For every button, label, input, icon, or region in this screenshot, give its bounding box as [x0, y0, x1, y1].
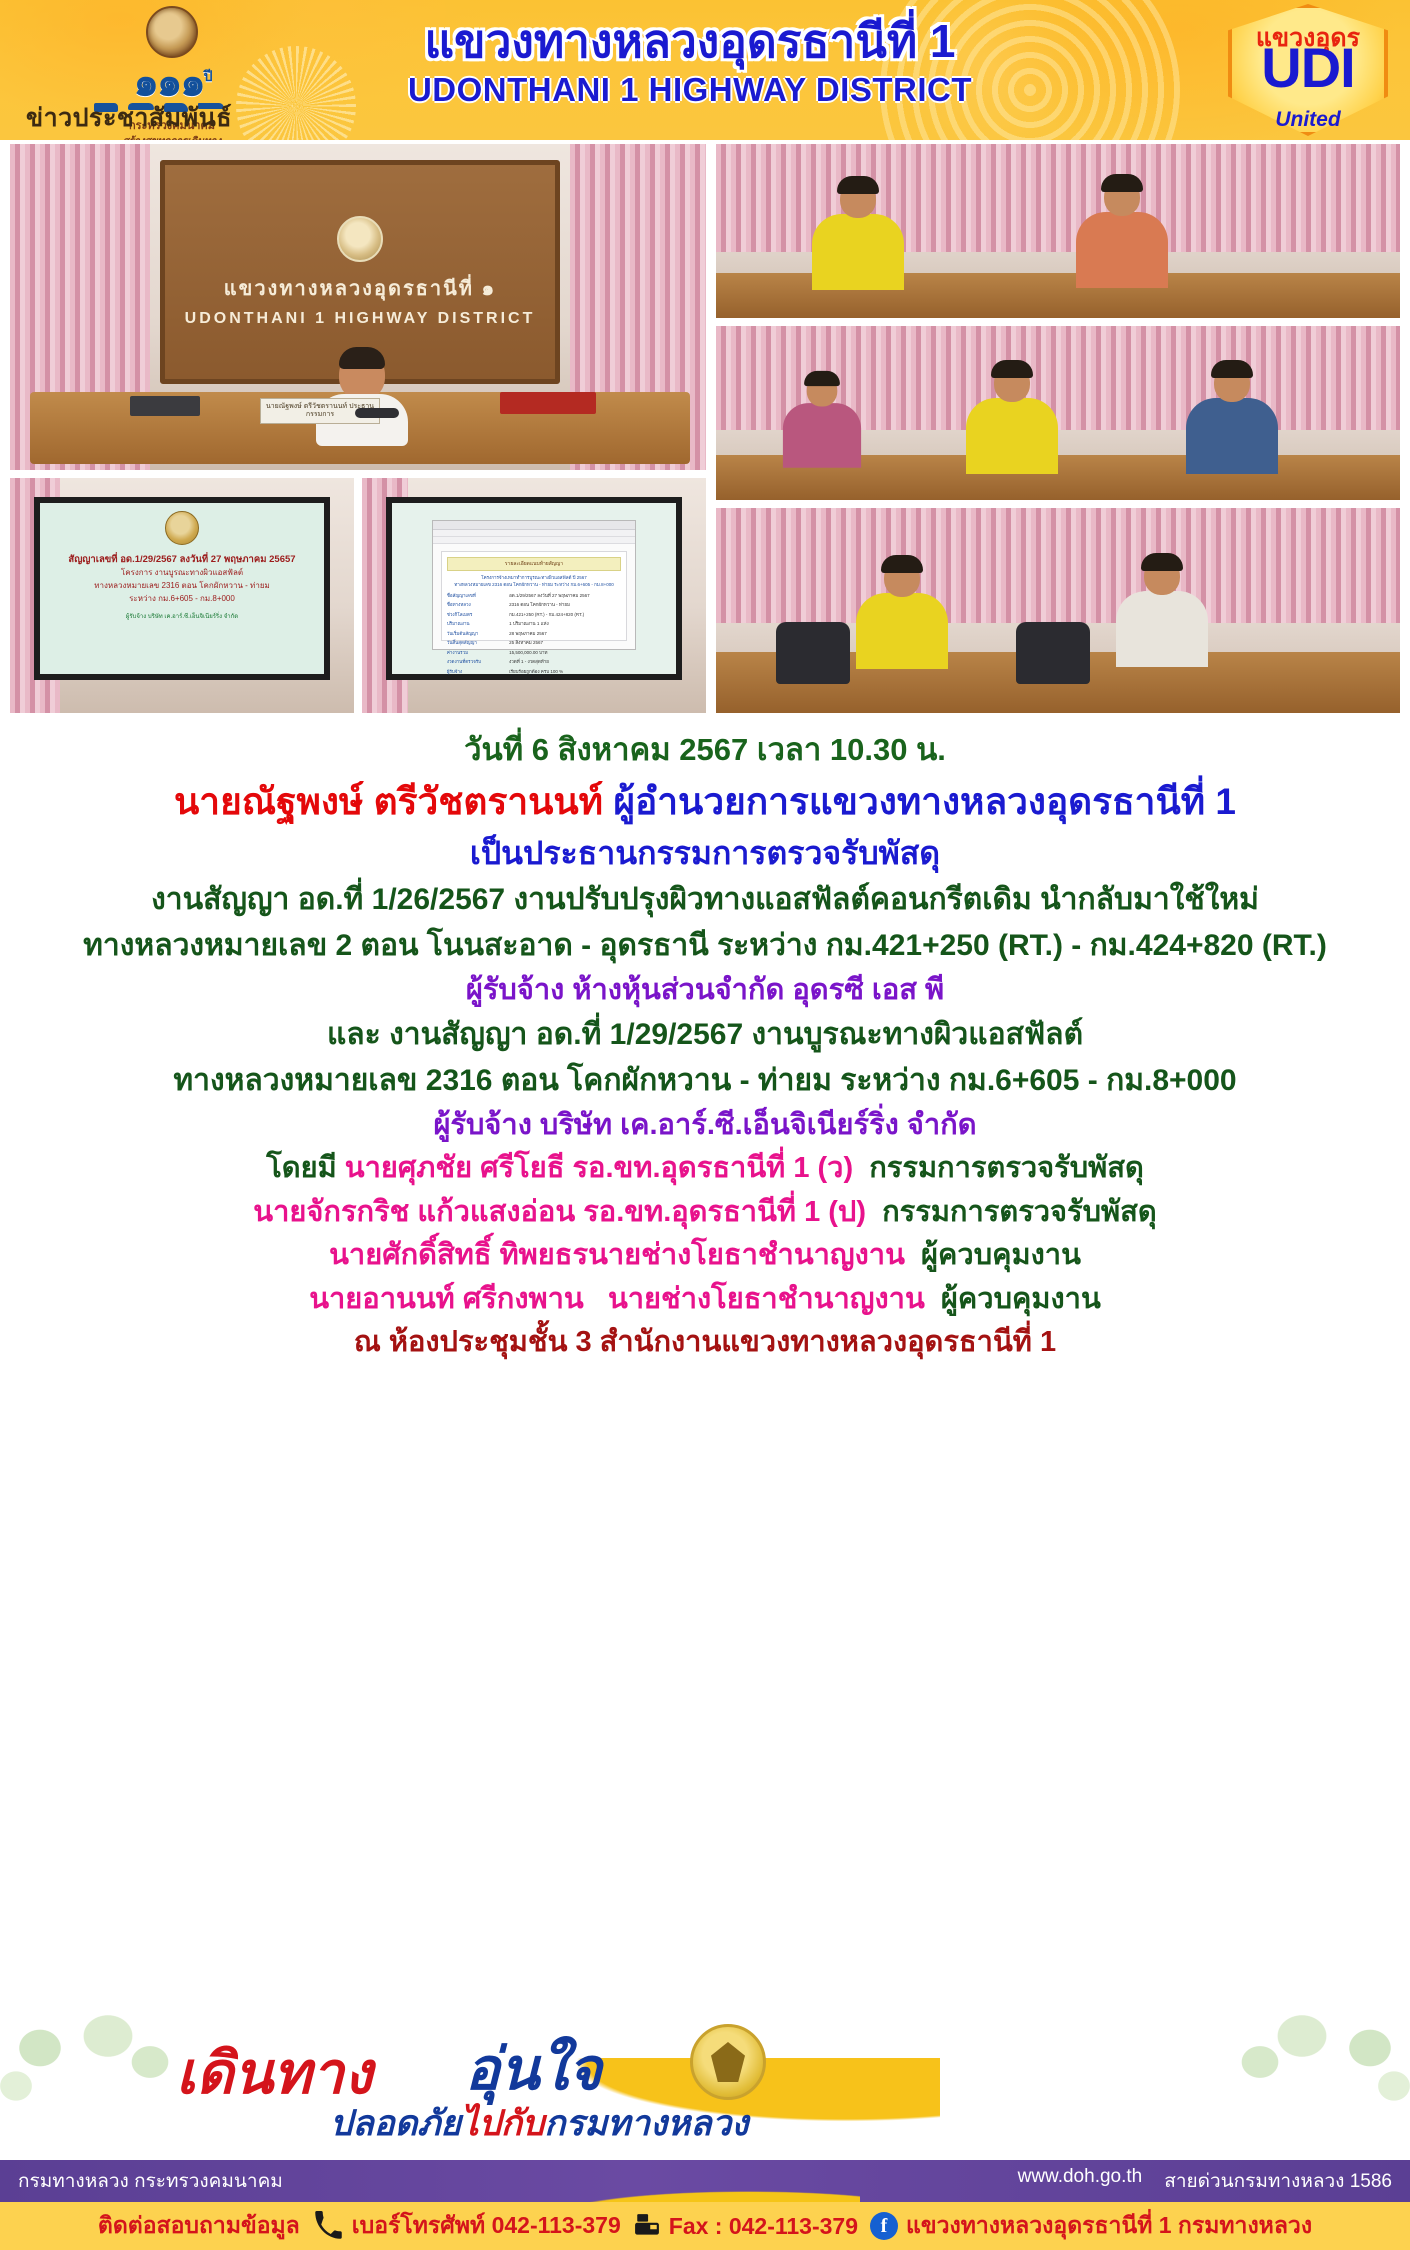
promo-tagline: ปลอดภัยไปกับกรมทางหลวง — [330, 2096, 748, 2151]
udi-badge: แขวงอุดร UDI United — [1228, 4, 1388, 136]
phone-number: เบอร์โทรศัพท์ 042-113-379 — [352, 2208, 621, 2244]
document-rows: ชื่อสัญญาเลขที่อด.1/29/2567 ลงวันที่ 27 … — [447, 592, 621, 675]
contract2-line1: และ งานสัญญา อด.ที่ 1/29/2567 งานบูรณะทา… — [0, 1016, 1410, 1054]
slide-line-1: สัญญาเลขที่ อด.1/29/2567 ลงวันที่ 27 พฤษ… — [49, 553, 316, 566]
document-row: ชื่อสัญญาเลขที่อด.1/29/2567 ลงวันที่ 27 … — [447, 592, 621, 599]
attendee-position-0: รอ.ขท.อุดรธานีที่ 1 (ว) — [572, 1152, 853, 1184]
document-row: งวดงานที่ตรวจรับงวดที่ 1 - งวดสุดท้าย — [447, 658, 621, 665]
laptop — [130, 396, 200, 416]
attendee-position-1: รอ.ขท.อุดรธานีที่ 1 (ป) — [583, 1196, 866, 1228]
document-row-value: อด.1/29/2567 ลงวันที่ 27 พฤษภาคม 2567 — [509, 592, 621, 599]
slide-line-5: ผู้รับจ้าง บริษัท เค.อาร์.ซี.เอ็นจิเนียร… — [49, 611, 316, 624]
anniversary-years: ๑๑๑ปี — [72, 60, 272, 99]
contract1-line1: งานสัญญา อด.ที่ 1/26/2567 งานปรับปรุงผิว… — [0, 881, 1410, 919]
page-header: ๑๑๑ปี กระทรวงคมนาคม สร้างสุขทุกการเดินทา… — [0, 0, 1410, 140]
document-row: ค่างานรวม15,500,000.00 บาท — [447, 649, 621, 656]
footer-website[interactable]: www.doh.go.th — [1018, 2166, 1143, 2196]
photo-director-presiding: แขวงทางหลวงอุดรธานีที่ ๑ UDONTHANI 1 HIG… — [8, 142, 708, 472]
sign-text-thai: แขวงทางหลวงอุดรธานีที่ ๑ — [224, 272, 496, 304]
attendee-line-3: นายอานนท์ ศรีกงพาน นายช่างโยธาชำนาญงาน ผ… — [0, 1281, 1410, 1318]
facebook-page-name[interactable]: แขวงทางหลวงอุดรธานีที่ 1 กรมทางหลวง — [906, 2208, 1312, 2244]
attendee-line-1: นายจักรกริช แก้วแสงอ่อน รอ.ขท.อุดรธานีที… — [0, 1194, 1410, 1231]
attendee-role-1: กรรมการตรวจรับพัสดุ — [882, 1196, 1157, 1228]
document-row-value: เรียบร้อยถูกต้อง ครบ 100 % — [509, 668, 621, 675]
document-row-key: ผู้รับจ้าง — [447, 668, 506, 675]
document-row-value: 2316 ตอน โคกผักหวาน - ท่ายม — [509, 601, 621, 608]
footer-hotline: สายด่วนกรมทางหลวง 1586 — [1164, 2166, 1392, 2196]
phone-icon — [312, 2210, 344, 2242]
attendee-name-1: นายจักรกริช แก้วแสงอ่อน — [253, 1196, 575, 1228]
document-row-key: ชื่อสัญญาเลขที่ — [447, 592, 506, 599]
poster-page: ๑๑๑ปี กระทรวงคมนาคม สร้างสุขทุกการเดินทา… — [0, 0, 1410, 2250]
document-row-key: ช่วงกิโลเมตร — [447, 611, 506, 618]
district-title-english: UDONTHANI 1 HIGHWAY DISTRICT — [250, 70, 1130, 110]
photo-committee-group — [714, 324, 1402, 502]
fax-icon — [633, 2211, 661, 2241]
document-row-key: วันสิ้นสุดสัญญา — [447, 639, 506, 646]
contract1-line2: ทางหลวงหมายเลข 2 ตอน โนนสะอาด - อุดรธานี… — [0, 927, 1410, 965]
footer-contact-band: ติดต่อสอบถามข้อมูล เบอร์โทรศัพท์ 042-113… — [0, 2202, 1410, 2250]
document-sheet: รายละเอียดแนบท้ายสัญญา โครงการจ้างเหมาทำ… — [441, 551, 627, 641]
attendee-line-0: โดยมี นายศุภชัย ศรีโยธี รอ.ขท.อุดรธานีที… — [0, 1150, 1410, 1187]
document-row-value: กม.421+250 (RT.) - กม.424+820 (RT.) — [509, 611, 621, 618]
district-title-thai: แขวงทางหลวงอุดรธานีที่ 1 — [250, 12, 1130, 70]
photo-collage: แขวงทางหลวงอุดรธานีที่ ๑ UDONTHANI 1 HIG… — [8, 142, 1402, 715]
document-row-value: 25 สิงหาคม 2567 — [509, 639, 621, 646]
date-line: วันที่ 6 สิงหาคม 2567 เวลา 10.30 น. — [0, 730, 1410, 769]
document-row: ชื่อทางหลวง2316 ตอน โคกผักหวาน - ท่ายม — [447, 601, 621, 608]
photo-contract-document-slide: รายละเอียดแนบท้ายสัญญา โครงการจ้างเหมาทำ… — [360, 476, 708, 715]
years-unit: ปี — [204, 69, 211, 85]
attendee-role-2: ผู้ควบคุมงาน — [921, 1239, 1081, 1271]
photo-committee-reviewing — [714, 506, 1402, 715]
document-window: รายละเอียดแนบท้ายสัญญา โครงการจ้างเหมาทำ… — [432, 520, 636, 650]
sign-text-english: UDONTHANI 1 HIGHWAY DISTRICT — [185, 310, 536, 328]
document-header: รายละเอียดแนบท้ายสัญญา — [447, 557, 621, 571]
attendee-name-0: นายศุภชัย ศรีโยธี — [345, 1152, 565, 1184]
contract2-line2: ทางหลวงหมายเลข 2316 ตอน โคกผักหวาน - ท่า… — [0, 1062, 1410, 1100]
contract1-contractor: ผู้รับจ้าง ห้างหุ้นส่วนจำกัด อุดรซี เอส … — [0, 972, 1410, 1009]
photo-projector-slide: สัญญาเลขที่ อด.1/29/2567 ลงวันที่ 27 พฤษ… — [8, 476, 356, 715]
header-titles: แขวงทางหลวงอุดรธานีที่ 1 UDONTHANI 1 HIG… — [250, 12, 1130, 110]
slide-line-2: โครงการ งานบูรณะทางผิวแอสฟัลต์ — [49, 566, 316, 579]
footer-org: กรมทางหลวง กระทรวงคมนาคม — [18, 2166, 283, 2196]
document-row: วันเริ่มต้นสัญญา28 พฤษภาคม 2567 — [447, 630, 621, 637]
document-row-key: ชื่อทางหลวง — [447, 601, 506, 608]
udi-badge-sub-label: United — [1228, 108, 1388, 132]
promo-tagline-c: กรมทางหลวง — [544, 2104, 748, 2143]
footer-road-graphic — [300, 2156, 860, 2206]
document-row-key: ค่างานรวม — [447, 649, 506, 656]
director-figure — [310, 350, 414, 442]
attendee-name-3: นายอานนท์ ศรีกงพาน — [309, 1283, 584, 1315]
venue-line: ณ ห้องประชุมชั้น 3 สำนักงานแขวงทางหลวงอุ… — [0, 1324, 1410, 1361]
slide-line-4: ระหว่าง กม.6+605 - กม.8+000 — [49, 592, 316, 605]
promo-tagline-b: ไปกับ — [461, 2104, 544, 2143]
document-row-key: งวดงานที่ตรวจรับ — [447, 658, 506, 665]
document-row: วันสิ้นสุดสัญญา25 สิงหาคม 2567 — [447, 639, 621, 646]
attendee-position-3: นายช่างโยธาชำนาญงาน — [608, 1283, 925, 1315]
fax-number: Fax : 042-113-379 — [669, 2213, 858, 2240]
attendee-line-2: นายศักดิ์สิทธิ์ ทิพยธรนายช่างโยธาชำนาญงา… — [0, 1237, 1410, 1274]
slide-line-3: ทางหลวงหมายเลข 2316 ตอน โคกผักหวาน - ท่า… — [49, 579, 316, 592]
promo-banner: เดินทาง อุ่นใจ ปลอดภัยไปกับกรมทางหลวง — [0, 2000, 1410, 2160]
director-line: นายณัฐพงษ์ ตรีวัชตรานนท์ ผู้อำนวยการแขวง… — [0, 779, 1410, 826]
contact-label: ติดต่อสอบถามข้อมูล — [98, 2208, 300, 2244]
attendee-role-3: ผู้ควบคุมงาน — [941, 1283, 1101, 1315]
red-folder — [500, 392, 596, 414]
slide-emblem-icon — [165, 511, 199, 545]
attendee-name-2: นายศักดิ์สิทธิ์ ทิพยธรนายช่างโยธาชำนาญงา… — [329, 1239, 905, 1271]
announcement-body: วันที่ 6 สิงหาคม 2567 เวลา 10.30 น. นายณ… — [0, 722, 1410, 1361]
attendees-prefix: โดยมี — [266, 1152, 337, 1184]
doh-seal-icon — [690, 2024, 766, 2100]
microphone — [355, 408, 399, 418]
facebook-icon[interactable]: f — [870, 2212, 898, 2240]
photo-committee-two-members — [714, 142, 1402, 320]
garuda-emblem-icon — [337, 216, 383, 262]
document-subtitle-2: ทางหลวงหมายเลข 2316 ตอน โคกผักหวาน - ท่า… — [447, 581, 621, 588]
promo-tagline-a: ปลอดภัย — [330, 2104, 461, 2143]
director-name: นายณัฐพงษ์ ตรีวัชตรานนท์ — [174, 781, 603, 822]
document-row: ปริมาณงาน1 ปริมาณงาน 1 แห่ง — [447, 620, 621, 627]
udi-badge-main-label: UDI — [1228, 40, 1388, 96]
role-line: เป็นประธานกรรมการตรวจรับพัสดุ — [0, 833, 1410, 873]
document-row: ช่วงกิโลเมตรกม.421+250 (RT.) - กม.424+82… — [447, 611, 621, 618]
director-title: ผู้อำนวยการแขวงทางหลวงอุดรธานีที่ 1 — [613, 781, 1236, 822]
document-row-value: 1 ปริมาณงาน 1 แห่ง — [509, 620, 621, 627]
contract2-contractor: ผู้รับจ้าง บริษัท เค.อาร์.ซี.เอ็นจิเนียร… — [0, 1107, 1410, 1144]
document-row-key: วันเริ่มต้นสัญญา — [447, 630, 506, 637]
pr-ribbon-label: ข่าวประชาสัมพันธ์ — [6, 100, 252, 136]
attendee-role-0: กรรมการตรวจรับพัสดุ — [869, 1152, 1144, 1184]
footer-purple-band: กรมทางหลวง กระทรวงคมนาคม www.doh.go.th ส… — [0, 2160, 1410, 2202]
document-row-value: งวดที่ 1 - งวดสุดท้าย — [509, 658, 621, 665]
document-row-value: 28 พฤษภาคม 2567 — [509, 630, 621, 637]
document-subtitle-1: โครงการจ้างเหมาทำการบูรณะทางผิวแอสฟัลต์ … — [447, 574, 621, 581]
ministry-seal-icon — [146, 6, 198, 58]
trees-right-decoration — [1230, 2000, 1410, 2160]
document-row: ผู้รับจ้างเรียบร้อยถูกต้อง ครบ 100 % — [447, 668, 621, 675]
projection-screen: สัญญาเลขที่ อด.1/29/2567 ลงวันที่ 27 พฤษ… — [34, 497, 330, 680]
document-row-value: 15,500,000.00 บาท — [509, 649, 621, 656]
document-row-key: ปริมาณงาน — [447, 620, 506, 627]
